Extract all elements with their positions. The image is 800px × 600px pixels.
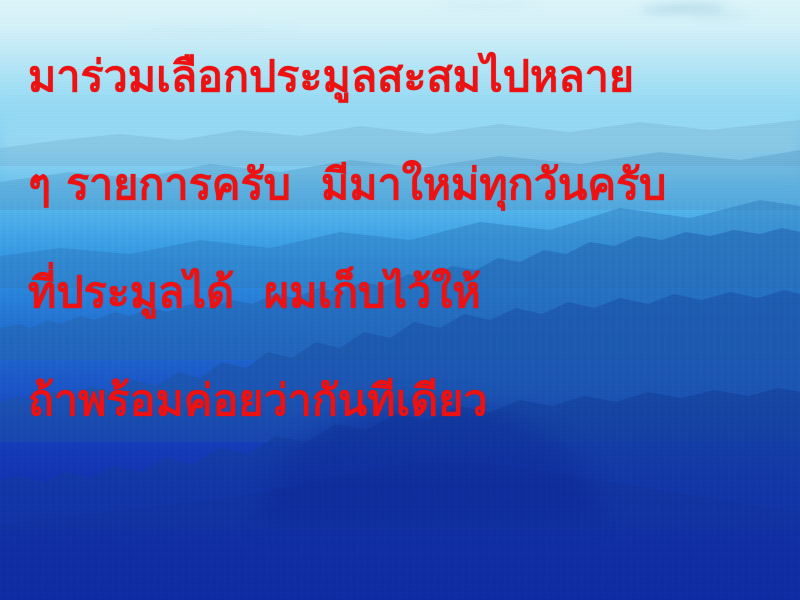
image-canvas: มาร่วมเลือกประมูลสะสมไปหลาย ๆ รายการครับ…: [0, 0, 800, 600]
caption-line-2: ๆ รายการครับ มีมาใหม่ทุกวันครับ: [28, 164, 666, 207]
cloud-wisp-icon: [120, 26, 300, 33]
caption-line-3: ที่ประมูลได้ ผมเก็บไว้ให้: [28, 272, 481, 315]
caption-line-4: ถ้าพร้อมค่อยว่ากันทีเดียว: [28, 380, 488, 423]
cloud-wisp-icon: [430, 2, 540, 8]
cloud-wisp-icon: [690, 12, 750, 18]
caption-line-1: มาร่วมเลือกประมูลสะสมไปหลาย: [28, 56, 634, 99]
